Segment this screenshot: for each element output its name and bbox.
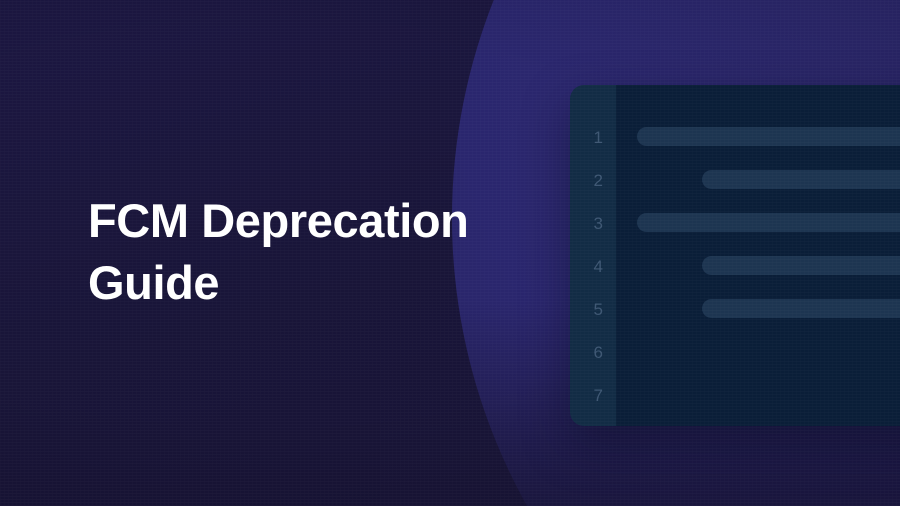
line-number-1: 1 bbox=[581, 129, 603, 146]
line-number-3: 3 bbox=[581, 215, 603, 232]
page-title: FCM Deprecation Guide bbox=[88, 190, 518, 314]
line-number-4: 4 bbox=[581, 258, 603, 275]
code-line-bar-4 bbox=[702, 256, 900, 275]
editor-body bbox=[616, 85, 900, 426]
line-number-6: 6 bbox=[581, 344, 603, 361]
code-line-bar-3 bbox=[637, 213, 900, 232]
code-line-bar-1 bbox=[637, 127, 900, 146]
code-line-bar-5 bbox=[702, 299, 900, 318]
line-number-2: 2 bbox=[581, 172, 603, 189]
title-line-1: FCM Deprecation bbox=[88, 190, 518, 252]
hero-banner: FCM Deprecation Guide 1 2 3 4 5 6 7 bbox=[0, 0, 900, 506]
line-number-7: 7 bbox=[581, 387, 603, 404]
code-line-bar-2 bbox=[702, 170, 900, 189]
editor-gutter: 1 2 3 4 5 6 7 bbox=[570, 85, 616, 426]
line-number-5: 5 bbox=[581, 301, 603, 318]
code-editor-mock: 1 2 3 4 5 6 7 bbox=[570, 85, 900, 426]
title-line-2: Guide bbox=[88, 252, 518, 314]
